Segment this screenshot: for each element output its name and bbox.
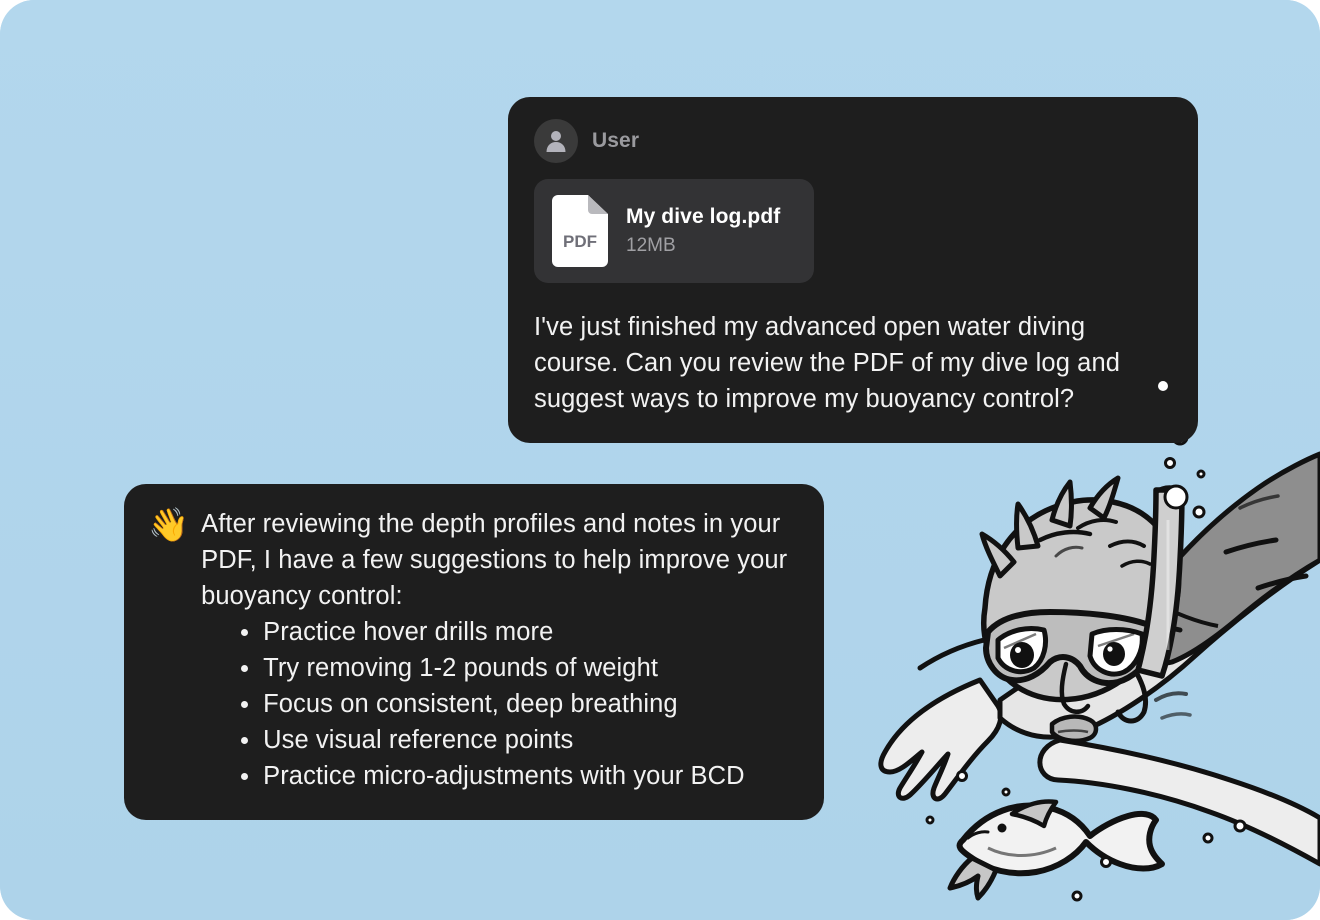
- message-author: User: [592, 129, 639, 153]
- attachment-file-size: 12MB: [626, 235, 780, 257]
- app-canvas: User PDF My dive log.pdf 12MB I've just …: [0, 0, 1320, 920]
- fish-figure: [950, 802, 1162, 899]
- waving-hand-emoji: 👋: [148, 506, 189, 543]
- list-item: Focus on consistent, deep breathing: [239, 686, 796, 722]
- person-avatar-icon: [534, 119, 578, 163]
- assistant-row: 👋 After reviewing the depth profiles and…: [148, 506, 796, 794]
- snorkeler-figure: [881, 454, 1320, 864]
- assistant-content: After reviewing the depth profiles and n…: [201, 506, 796, 794]
- list-item: Try removing 1-2 pounds of weight: [239, 650, 796, 686]
- attachment-file-name: My dive log.pdf: [626, 205, 780, 229]
- list-item: Use visual reference points: [239, 722, 796, 758]
- user-message-text: I've just finished my advanced open wate…: [534, 309, 1172, 417]
- file-attachment-card[interactable]: PDF My dive log.pdf 12MB: [534, 179, 814, 283]
- water-bubbles: [927, 430, 1245, 900]
- assistant-message-bubble: 👋 After reviewing the depth profiles and…: [124, 484, 824, 820]
- user-message-bubble: User PDF My dive log.pdf 12MB I've just …: [508, 97, 1198, 443]
- attachment-meta: My dive log.pdf 12MB: [626, 205, 780, 257]
- svg-text:PDF: PDF: [563, 232, 597, 251]
- pdf-file-icon: PDF: [552, 195, 608, 267]
- user-header: User: [534, 119, 1172, 163]
- suggestion-list: Practice hover drills more Try removing …: [201, 614, 796, 794]
- list-item: Practice hover drills more: [239, 614, 796, 650]
- assistant-intro-text: After reviewing the depth profiles and n…: [201, 506, 796, 614]
- list-item: Practice micro-adjustments with your BCD: [239, 758, 796, 794]
